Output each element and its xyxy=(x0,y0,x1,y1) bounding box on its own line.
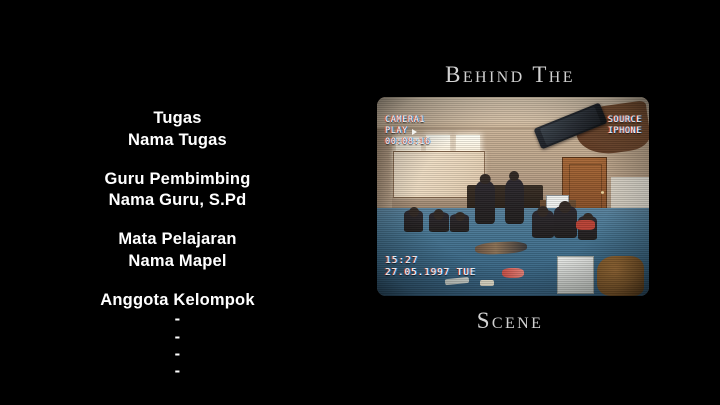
credit-value: Nama Mapel xyxy=(40,251,315,273)
osd-clock: 15:27 xyxy=(385,255,476,268)
title-line-bottom: Scene xyxy=(365,308,655,334)
member-entry: - xyxy=(40,311,315,328)
credit-value: Nama Guru, S.Pd xyxy=(40,190,315,212)
video-credits-screen: Tugas Nama Tugas Guru Pembimbing Nama Gu… xyxy=(0,0,720,405)
osd-transport-row: PLAY xyxy=(385,126,431,137)
credit-block-anggota-kelompok: Anggota Kelompok - - - - xyxy=(40,290,315,381)
white-box xyxy=(557,256,594,294)
standing-person xyxy=(475,181,495,225)
seated-person xyxy=(532,210,554,238)
person-head xyxy=(455,212,465,222)
brown-bag xyxy=(597,256,643,296)
title-line-top: Behind The xyxy=(365,62,655,88)
video-frame[interactable]: CAMERA1 PLAY 00:08:16 SOURCE IPHONE 15:2… xyxy=(377,97,649,296)
osd-transport-label: PLAY xyxy=(385,126,408,137)
credit-heading: Anggota Kelompok xyxy=(40,290,315,312)
person-head xyxy=(509,171,519,181)
credit-value: Nama Tugas xyxy=(40,130,315,152)
osd-camera-status: CAMERA1 PLAY 00:08:16 xyxy=(385,115,431,149)
credit-block-mata-pelajaran: Mata Pelajaran Nama Mapel xyxy=(40,229,315,273)
osd-source-value: IPHONE xyxy=(608,126,642,137)
member-entry: - xyxy=(40,346,315,363)
red-floor-item xyxy=(502,268,524,278)
osd-source-label: SOURCE xyxy=(608,115,642,126)
seated-person xyxy=(554,206,577,238)
member-entry: - xyxy=(40,363,315,380)
play-triangle-icon xyxy=(412,129,417,135)
osd-source: SOURCE IPHONE xyxy=(608,115,642,137)
red-floor-item xyxy=(576,220,595,230)
door-knob xyxy=(601,191,604,194)
seated-person xyxy=(429,212,449,232)
credit-heading: Tugas xyxy=(40,108,315,130)
standing-person xyxy=(505,179,524,225)
seated-person xyxy=(404,210,423,232)
person-head xyxy=(409,207,419,217)
person-head xyxy=(559,201,571,213)
credit-block-guru-pembimbing: Guru Pembimbing Nama Guru, S.Pd xyxy=(40,169,315,213)
osd-camera-label: CAMERA1 xyxy=(385,115,431,126)
person-body xyxy=(505,179,524,225)
osd-date: 27.05.1997 TUE xyxy=(385,267,476,280)
person-head xyxy=(434,209,445,220)
credit-block-tugas: Tugas Nama Tugas xyxy=(40,108,315,152)
seated-person xyxy=(450,214,469,232)
credit-heading: Guru Pembimbing xyxy=(40,169,315,191)
member-entry: - xyxy=(40,329,315,346)
credit-heading: Mata Pelajaran xyxy=(40,229,315,251)
osd-timecode: 00:08:16 xyxy=(385,137,431,148)
floor-bottle xyxy=(480,280,494,286)
person-head xyxy=(480,174,491,185)
credits-column: Tugas Nama Tugas Guru Pembimbing Nama Gu… xyxy=(40,108,315,381)
osd-datetime: 15:27 27.05.1997 TUE xyxy=(385,255,476,280)
person-body xyxy=(475,181,495,225)
member-list: - - - - xyxy=(40,311,315,380)
